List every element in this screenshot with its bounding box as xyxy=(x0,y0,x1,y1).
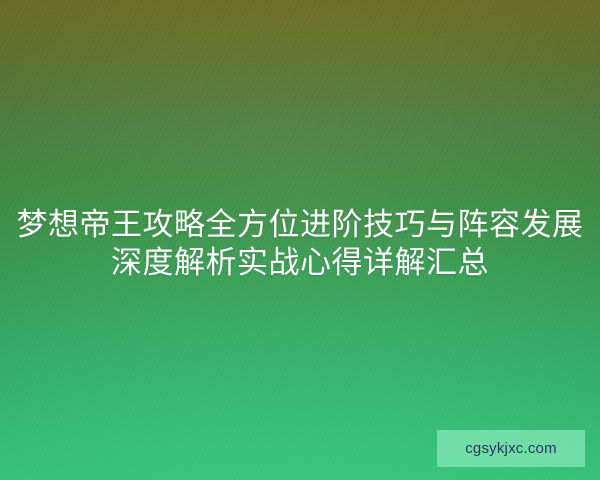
watermark-site-url: cgsykjxc.com xyxy=(465,441,557,456)
banner-title-line-1: 梦想帝王攻略全方位进阶技巧与阵容发展 xyxy=(12,206,588,244)
banner-title: 梦想帝王攻略全方位进阶技巧与阵容发展 深度解析实战心得详解汇总 xyxy=(0,206,600,282)
banner-title-line-2: 深度解析实战心得详解汇总 xyxy=(12,244,588,282)
watermark-badge: cgsykjxc.com xyxy=(437,430,585,467)
banner-image: 梦想帝王攻略全方位进阶技巧与阵容发展 深度解析实战心得详解汇总 cgsykjxc… xyxy=(0,0,600,480)
